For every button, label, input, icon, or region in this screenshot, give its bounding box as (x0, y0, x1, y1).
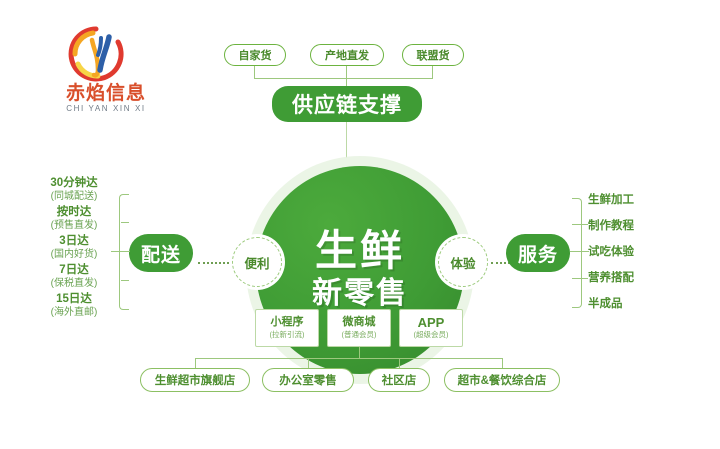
hub-title-line1: 生鲜 (315, 228, 405, 274)
delivery-pill[interactable]: 配送 (129, 234, 193, 272)
supply-source-own-label: 自家货 (239, 47, 272, 63)
supply-chain-block[interactable]: 供应链支撑 (272, 86, 422, 122)
hub-badge-convenience-label: 便利 (244, 253, 269, 272)
delivery-item-title: 按时达 (28, 205, 120, 219)
channel-wechat-mall[interactable]: 微商城 (普通会员) (327, 309, 391, 347)
channel-app-name: APP (418, 316, 445, 329)
service-list: 生鲜加工 制作教程 试吃体验 营养搭配 半成品 (588, 188, 680, 318)
service-bracket-stem (570, 251, 589, 252)
store-type-flagship[interactable]: 生鲜超市旗舰店 (140, 368, 250, 392)
store-type-community[interactable]: 社区店 (368, 368, 430, 392)
connector-own-down (254, 66, 255, 78)
infographic-canvas: 赤焰信息 CHI YAN XIN XI 自家货 产地直发 联盟货 供应链支撑 生… (0, 0, 720, 449)
connector-channels-down (359, 347, 360, 358)
supply-chain-label: 供应链支撑 (292, 89, 402, 119)
channel-miniprogram[interactable]: 小程序 (拉新引流) (255, 309, 319, 347)
service-pill[interactable]: 服务 (506, 234, 570, 272)
delivery-item[interactable]: 15日达 (海外直邮) (28, 292, 120, 319)
flame-swoosh-circle-logo (68, 26, 124, 82)
service-tick-1 (572, 224, 588, 225)
delivery-item-title: 3日达 (28, 234, 120, 248)
channel-wechat-mall-sub: (普通会员) (342, 329, 377, 340)
supply-source-origin-label: 产地直发 (325, 47, 369, 63)
delivery-item-title: 15日达 (28, 292, 120, 306)
service-item[interactable]: 营养搭配 (588, 266, 680, 290)
connector-rail-office (308, 358, 309, 368)
brand-name-pinyin: CHI YAN XIN XI (46, 104, 166, 113)
service-item-title: 试吃体验 (588, 240, 680, 264)
delivery-item-sub: (国内好货) (28, 248, 120, 261)
channel-wechat-mall-name: 微商城 (343, 316, 376, 329)
hub-badge-experience[interactable]: 体验 (438, 237, 488, 287)
store-type-combo[interactable]: 超市&餐饮综合店 (444, 368, 560, 392)
service-item-title: 生鲜加工 (588, 188, 680, 212)
hub-badge-experience-label: 体验 (450, 253, 475, 272)
hub-badge-convenience[interactable]: 便利 (232, 237, 282, 287)
supply-source-alliance[interactable]: 联盟货 (402, 44, 464, 66)
connector-rail-combo (502, 358, 503, 368)
service-tick-2 (572, 278, 588, 279)
delivery-item-sub: (同城配送) (28, 190, 120, 203)
service-item[interactable]: 试吃体验 (588, 240, 680, 264)
channel-app-sub: (超级会员) (414, 329, 449, 340)
connector-supply-to-hub (346, 122, 347, 158)
delivery-pill-label: 配送 (141, 240, 181, 267)
connector-top-rail (254, 78, 433, 79)
brand-logo: 赤焰信息 CHI YAN XIN XI (46, 26, 166, 118)
connector-bottom-rail (195, 358, 502, 359)
service-item[interactable]: 制作教程 (588, 214, 680, 238)
delivery-tick-1 (121, 222, 129, 223)
connector-alliance-down (432, 66, 433, 78)
delivery-item-sub: (海外直邮) (28, 306, 120, 319)
delivery-item-title: 7日达 (28, 263, 120, 277)
delivery-item[interactable]: 7日达 (保税直发) (28, 263, 120, 290)
channel-miniprogram-sub: (拉新引流) (270, 329, 305, 340)
connector-dots-left (198, 262, 229, 264)
service-pill-label: 服务 (518, 240, 558, 267)
brand-name-cn: 赤焰信息 (46, 83, 166, 104)
channel-miniprogram-name: 小程序 (271, 316, 304, 329)
delivery-list: 30分钟达 (同城配送) 按时达 (预售直发) 3日达 (国内好货) 7日达 (… (28, 176, 120, 321)
delivery-item[interactable]: 按时达 (预售直发) (28, 205, 120, 232)
store-type-community-label: 社区店 (382, 372, 417, 388)
service-item[interactable]: 半成品 (588, 292, 680, 316)
service-item-title: 营养搭配 (588, 266, 680, 290)
service-item-title: 制作教程 (588, 214, 680, 238)
supply-source-origin[interactable]: 产地直发 (310, 44, 384, 66)
service-item[interactable]: 生鲜加工 (588, 188, 680, 212)
delivery-tick-2 (121, 280, 129, 281)
store-type-office-label: 办公室零售 (279, 372, 337, 388)
supply-source-own[interactable]: 自家货 (224, 44, 286, 66)
delivery-item[interactable]: 3日达 (国内好货) (28, 234, 120, 261)
hub-title-line2: 新零售 (312, 276, 408, 312)
store-type-combo-label: 超市&餐饮综合店 (458, 372, 547, 388)
delivery-item-sub: (预售直发) (28, 219, 120, 232)
service-item-title: 半成品 (588, 292, 680, 316)
connector-rail-flagship (195, 358, 196, 368)
channel-app[interactable]: APP (超级会员) (399, 309, 463, 347)
delivery-item-title: 30分钟达 (28, 176, 120, 190)
delivery-item[interactable]: 30分钟达 (同城配送) (28, 176, 120, 203)
supply-source-alliance-label: 联盟货 (417, 47, 450, 63)
store-type-flagship-label: 生鲜超市旗舰店 (155, 372, 236, 388)
delivery-item-sub: (保税直发) (28, 277, 120, 290)
store-type-office[interactable]: 办公室零售 (262, 368, 354, 392)
service-bracket (572, 198, 582, 308)
connector-rail-community (399, 358, 400, 368)
